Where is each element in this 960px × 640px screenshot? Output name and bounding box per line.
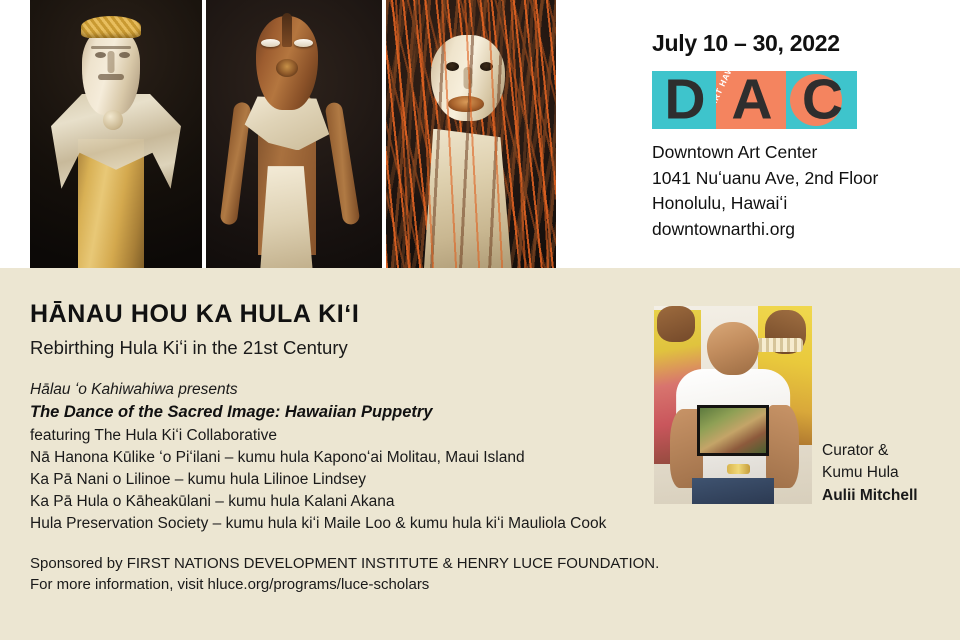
troupe-line: Ka Pā Hula o Kāheakūlani – kumu hula Kal…	[30, 493, 690, 511]
curator-photo-arm-right	[766, 405, 799, 488]
dac-logo[interactable]: D ART HAWAII A C	[652, 71, 857, 129]
header-block: July 10 – 30, 2022 D ART HAWAII A C Down…	[652, 30, 942, 242]
curator-photo	[654, 306, 812, 504]
venue-website[interactable]: downtownarthi.org	[652, 217, 942, 243]
curator-role-line-1: Curator &	[822, 440, 952, 462]
curator-photo-lei	[755, 338, 802, 352]
troupe-line: Ka Pā Nani o Lilinoe – kumu hula Lilinoe…	[30, 471, 690, 489]
curator-photo-framed-picture	[697, 405, 770, 456]
photo-1-mouth	[98, 74, 124, 80]
more-info-line[interactable]: For more information, visit hluce.org/pr…	[30, 576, 690, 593]
logo-square-c: C	[786, 71, 857, 129]
curator-photo-puppet-left-head	[657, 306, 695, 342]
photo-2-eye-right	[294, 39, 313, 47]
photo-3-fiber-hair-front	[386, 0, 556, 268]
venue-address: 1041 Nuʻuanu Ave, 2nd Floor	[652, 166, 942, 192]
main-text-column: HĀNAU HOU KA HULA KIʻI Rebirthing Hula K…	[30, 300, 690, 597]
venue-city: Honolulu, Hawaiʻi	[652, 191, 942, 217]
photo-2-head-ridge	[282, 13, 292, 47]
presenter-line: Hālau ʻo Kahiwahiwa presents	[30, 381, 690, 399]
photo-1-nose	[107, 51, 114, 73]
troupe-line: Nā Hanona Kūlike ʻo Piʻilani – kumu hula…	[30, 449, 690, 467]
photo-2-eye-left	[261, 39, 280, 47]
venue-name: Downtown Art Center	[652, 140, 942, 166]
photo-1-cape-knot	[103, 110, 123, 130]
sponsor-line: Sponsored by FIRST NATIONS DEVELOPMENT I…	[30, 555, 690, 572]
puppet-photo-1	[30, 0, 202, 268]
photo-1-brow	[91, 46, 131, 49]
logo-letter-d: D	[664, 72, 703, 129]
show-title: The Dance of the Sacred Image: Hawaiian …	[30, 403, 690, 422]
puppet-photo-3	[386, 0, 556, 268]
puppet-photo-2	[206, 0, 382, 268]
logo-square-d: D	[652, 71, 716, 129]
page-title: HĀNAU HOU KA HULA KIʻI	[30, 300, 690, 329]
featuring-line: featuring The Hula Kiʻi Collaborative	[30, 427, 690, 445]
photo-1-woven-crown	[81, 16, 141, 38]
curator-photo-watch	[727, 464, 751, 474]
logo-square-a: ART HAWAII A	[716, 71, 786, 129]
puppet-photo-strip	[30, 0, 556, 268]
event-date: July 10 – 30, 2022	[652, 30, 942, 57]
logo-letter-c: C	[802, 72, 841, 129]
curator-caption: Curator & Kumu Hula Aulii Mitchell	[822, 440, 952, 507]
troupe-line: Hula Preservation Society – kumu hula ki…	[30, 515, 690, 533]
page-subtitle: Rebirthing Hula Kiʻi in the 21st Century	[30, 337, 690, 359]
curator-photo-framed-image	[700, 408, 767, 453]
curator-photo-head	[707, 322, 759, 375]
photo-2-mouth	[276, 59, 298, 77]
venue-info: Downtown Art Center 1041 Nuʻuanu Ave, 2n…	[652, 140, 942, 242]
curator-photo-jeans	[692, 478, 774, 504]
sponsor-block: Sponsored by FIRST NATIONS DEVELOPMENT I…	[30, 555, 690, 593]
logo-letter-a: A	[731, 72, 770, 129]
curator-name: Aulii Mitchell	[822, 485, 952, 507]
curator-role-line-2: Kumu Hula	[822, 462, 952, 484]
